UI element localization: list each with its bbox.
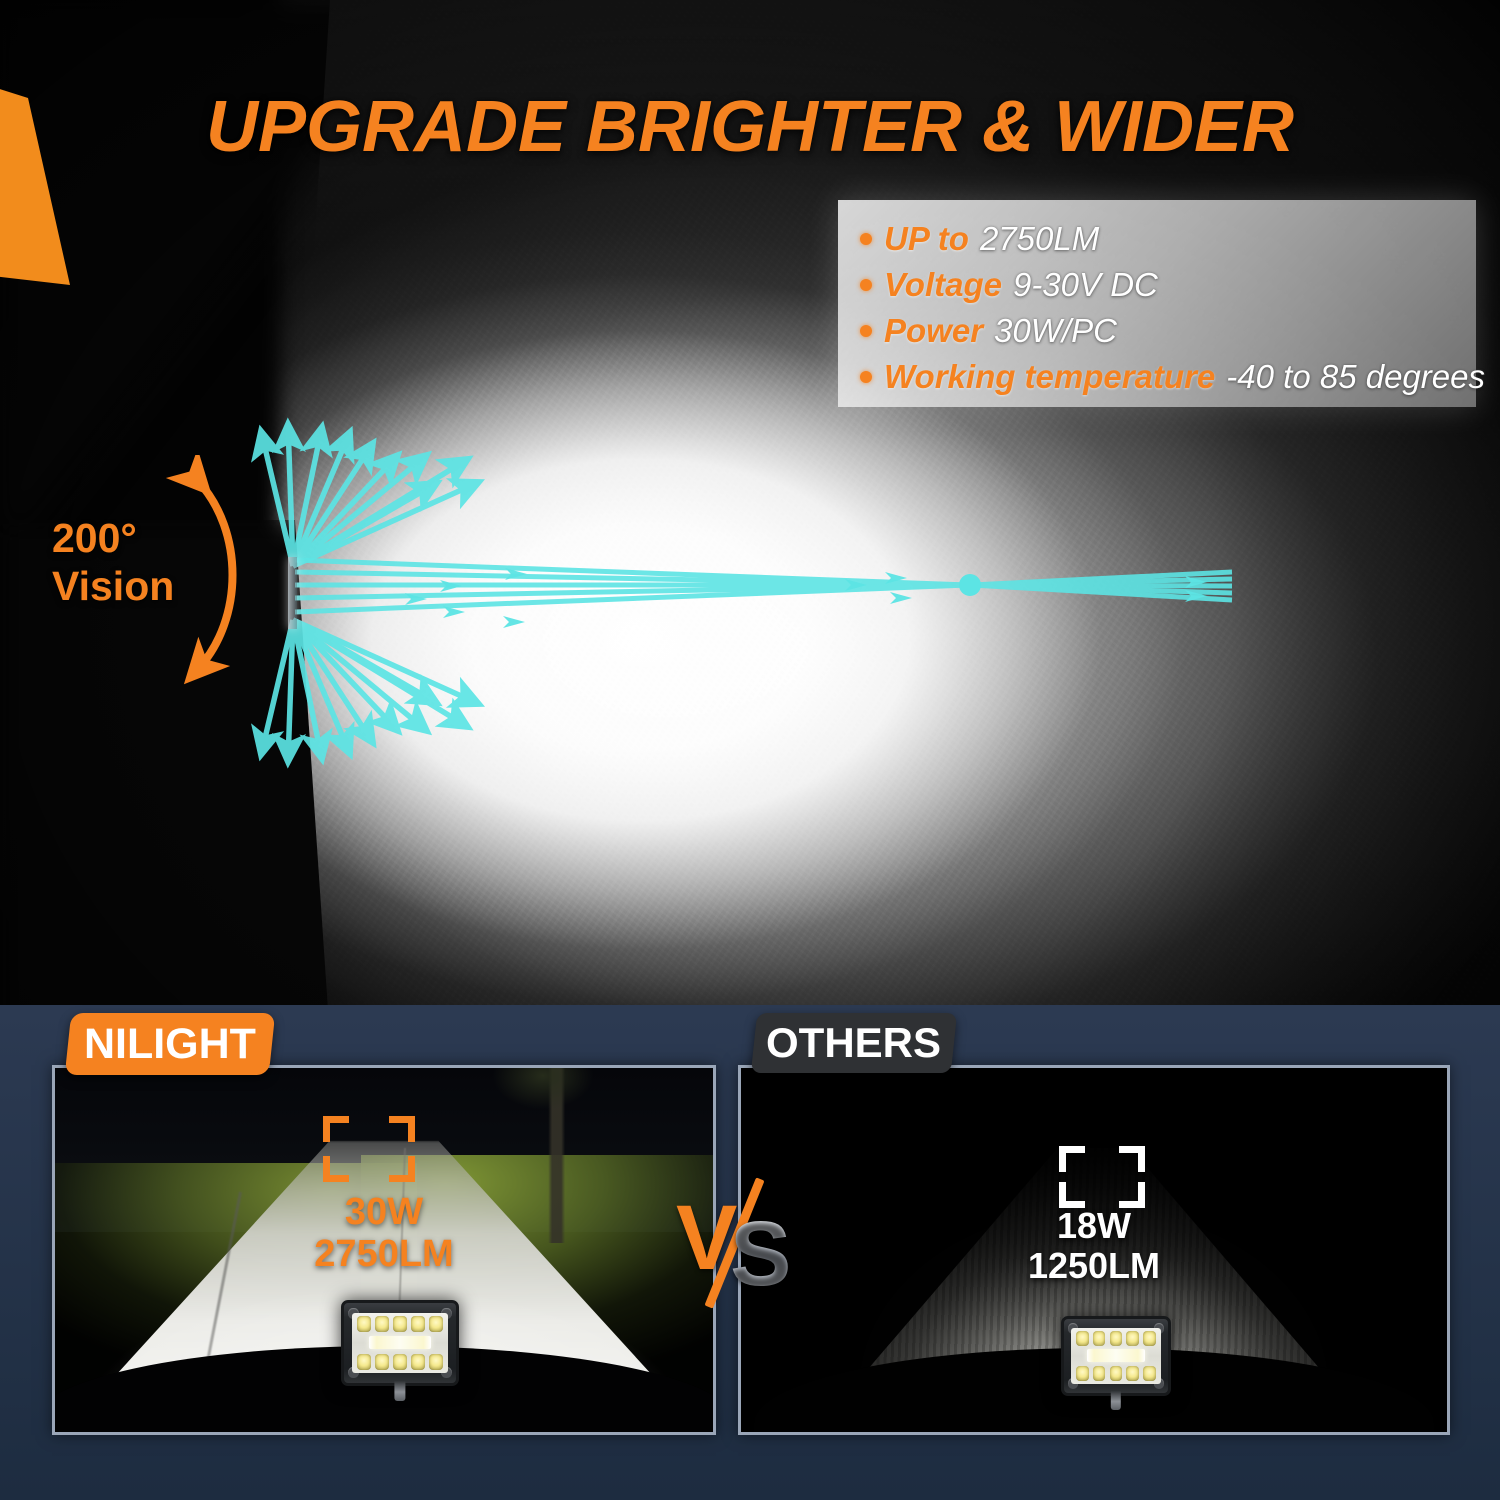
nilight-output-label: 30W 2750LM <box>55 1192 713 1276</box>
light-emitter-slit <box>288 557 297 629</box>
beam-focal-point <box>959 574 981 596</box>
versus-divider: V S <box>678 1182 798 1302</box>
others-photo-panel: 18W 1250LM <box>738 1065 1450 1435</box>
hero-section: UPGRADE BRIGHTER & WIDER UP to 2750LM Vo… <box>0 0 1500 1005</box>
focus-bracket <box>1059 1146 1145 1208</box>
badge-nilight-label: NILIGHT <box>84 1020 256 1069</box>
badge-others: OTHERS <box>751 1013 957 1073</box>
nilight-photo-panel: 30W 2750LM <box>52 1065 716 1435</box>
badge-nilight: NILIGHT <box>65 1013 276 1075</box>
vision-arc-arrow-icon <box>150 455 280 695</box>
others-output-label: 18W 1250LM <box>741 1206 1447 1285</box>
badge-others-label: OTHERS <box>766 1019 941 1067</box>
led-light-pod-others <box>1061 1316 1171 1396</box>
others-night-road-photo: 18W 1250LM <box>741 1068 1447 1432</box>
versus-s-letter: S <box>730 1208 791 1300</box>
focus-bracket <box>323 1116 415 1182</box>
led-light-pod-nilight <box>341 1300 459 1386</box>
nilight-night-road-photo: 30W 2750LM <box>55 1068 713 1432</box>
versus-v-letter: V <box>676 1192 737 1284</box>
